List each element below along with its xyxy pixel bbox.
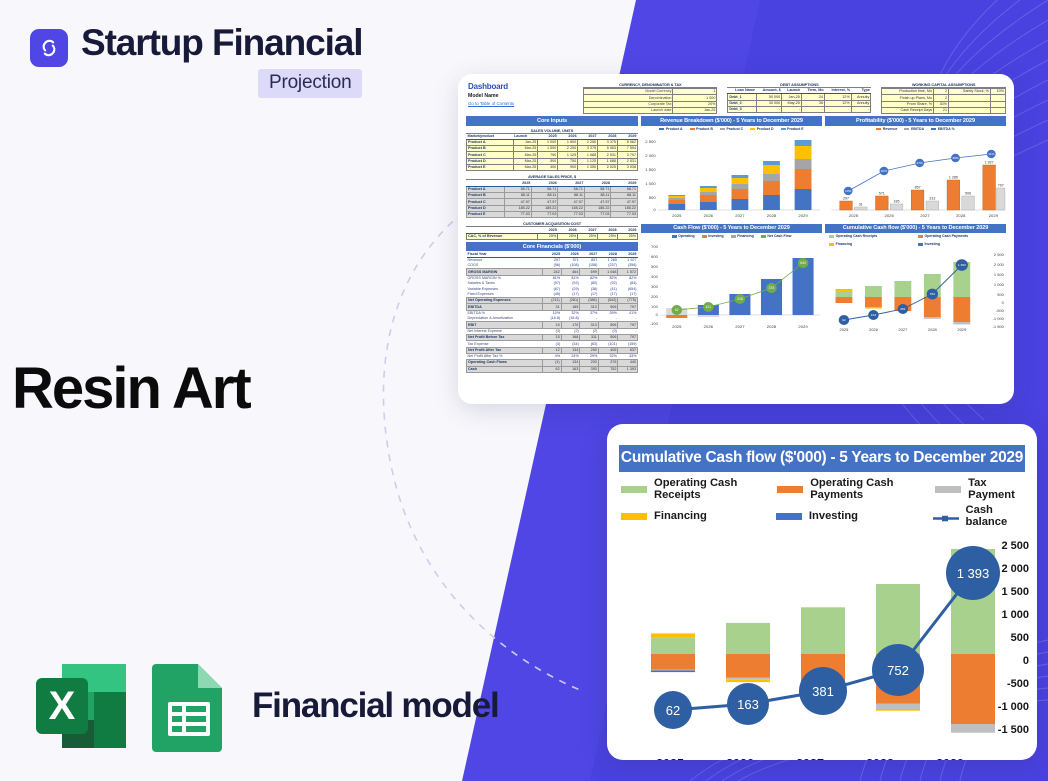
svg-text:2026: 2026 (885, 213, 895, 218)
data-label: 39% (952, 156, 959, 160)
svg-text:2 000: 2 000 (994, 262, 1005, 267)
badge-label: Financial model (252, 686, 499, 726)
dashboard-model-name: Model Name (468, 93, 583, 99)
data-label: 640 (800, 261, 806, 265)
data-label: 375 (769, 286, 775, 290)
data-label: 506 (965, 191, 971, 195)
data-label: 62 (842, 318, 846, 322)
data-label: 32% (881, 169, 888, 173)
x-tick: 2028 (845, 757, 915, 760)
infinity-loop-icon (37, 36, 61, 60)
x-tick: 2025 (635, 757, 705, 760)
table-row: Cash621633937521 393 (467, 366, 638, 372)
legend-label: Investing (708, 234, 723, 238)
legend-label: EBITDA % (938, 127, 955, 131)
svg-text:2026: 2026 (704, 213, 714, 218)
svg-text:2027: 2027 (920, 213, 930, 218)
svg-text:2025: 2025 (672, 324, 682, 329)
data-label: 752 (930, 292, 936, 296)
svg-text:2027: 2027 (898, 327, 907, 332)
y-tick: 500 (1011, 632, 1029, 644)
bar-group-2025 (651, 633, 695, 672)
svg-text:2029: 2029 (798, 213, 808, 218)
legend-label: Product E (787, 127, 804, 131)
legend-label: EBITDA (911, 127, 924, 131)
dashboard-preview-card[interactable]: Dashboard Model Name Go to Table of Cont… (458, 74, 1014, 404)
legend-label: Operating (678, 234, 695, 238)
profitability-chart-legend: Revenue EBITDA EBITDA % (825, 126, 1006, 133)
legend-item-financing: Financing (621, 504, 776, 528)
y-tick: -500 (1007, 678, 1029, 690)
table-row: Net Operating Expenses(211)(281)(386)(54… (467, 297, 638, 303)
avg-price-table: 2025 2026 2027 2028 2029 Product A 58.71… (466, 180, 638, 218)
svg-text:500: 500 (997, 292, 1005, 297)
chart-title: Cumulative Cash flow ($'000) - 5 Years t… (619, 445, 1025, 472)
legend-label: Operating Cash Payments (925, 234, 969, 238)
legend-label: Operating Cash Receipts (836, 234, 878, 238)
table-row: Debt_3 - - - - - (728, 106, 871, 112)
data-label: 297 (843, 196, 849, 200)
cashflow-chart-title: Cash Flow ($'000) - 5 Years to December … (641, 224, 822, 233)
table-row: Cash Receipt Days 21 (882, 107, 1006, 113)
svg-text:2027: 2027 (735, 324, 745, 329)
svg-text:2028: 2028 (928, 327, 937, 332)
data-label: 1 393 (958, 263, 966, 267)
debt-table: Loan Name Amount, $ Launch Term, Mo Inte… (727, 88, 871, 113)
cell: 163 (561, 366, 580, 372)
legend-swatch (777, 486, 803, 493)
cell: 393 (580, 366, 599, 372)
svg-text:-1 000: -1 000 (993, 316, 1005, 321)
table-row: GROSS MARGIN %81%81%82%82%82% (467, 275, 638, 281)
legend-label: Operating Cash Receipts (654, 477, 777, 501)
x-tick: 2026 (705, 757, 775, 760)
svg-text:1 500: 1 500 (645, 167, 656, 172)
legend-label: Product B (696, 127, 713, 131)
svg-text:-1 500: -1 500 (993, 324, 1005, 329)
svg-text:-500: -500 (996, 308, 1005, 313)
legend-item-operating-cash-payments: Operating Cash Payments (777, 477, 935, 501)
svg-text:500: 500 (649, 195, 657, 200)
legend-item-cash-balance: Cash balance (933, 504, 1023, 528)
chart-legend: Operating Cash Receipts Operating Cash P… (621, 477, 1023, 528)
data-label: 62 (675, 308, 679, 312)
cell: Launch date (584, 107, 673, 113)
svg-text:-100: -100 (650, 321, 659, 326)
brand-header: Startup Financial Projection (30, 24, 362, 98)
cell: 1 393 (618, 366, 638, 372)
legend-label: Financing (654, 510, 707, 522)
cumulative-mini-title: Cumulative Cash flow ($'000) - 5 Years t… (825, 224, 1006, 233)
data-label: 41% (988, 152, 995, 156)
svg-text:2 500: 2 500 (994, 252, 1005, 257)
data-label: 1 285 (949, 175, 958, 179)
cac-table: 2025 2026 2027 2028 2029 CAC, % of Reven… (466, 227, 638, 240)
svg-text:2028: 2028 (767, 213, 777, 218)
data-label: 101 (706, 305, 712, 309)
revenue-breakdown-chart: 2 500 2 000 1 500 1 000 500 0 (641, 133, 822, 219)
revenue-chart-legend: Product A Product B Product C Product D … (641, 126, 822, 133)
svg-text:2028: 2028 (956, 213, 966, 218)
svg-text:2025: 2025 (840, 327, 849, 332)
y-tick: 2 500 (1001, 540, 1029, 552)
row-label: Cash (467, 366, 543, 372)
svg-text:2 500: 2 500 (645, 139, 656, 144)
legend-label: Product D (757, 127, 774, 131)
legend-label: Product A (666, 127, 683, 131)
legend-swatch (621, 486, 647, 493)
profitability-chart-title: Profitability ($'000) - 5 Years to Decem… (825, 116, 1006, 125)
data-label: 752 (887, 663, 909, 678)
svg-text:100: 100 (651, 304, 659, 309)
data-label: 1 927 (985, 160, 994, 164)
cumulative-cashflow-card[interactable]: Cumulative Cash flow ($'000) - 5 Years t… (607, 424, 1037, 760)
svg-text:2025: 2025 (672, 213, 682, 218)
currency-table: Model Currency 1 Denomination 1 000 Corp… (583, 88, 717, 114)
working-capital-table: Production time, Mo 2 Safety Stock, % 10… (881, 88, 1006, 114)
core-financials-table: Fiscal Year 2025 2026 2027 2028 2029 Rev… (466, 251, 638, 373)
svg-text:1 000: 1 000 (994, 282, 1005, 287)
sales-volume-table: Market/product Launch 2025 2026 2027 202… (466, 134, 638, 172)
svg-text:1 000: 1 000 (645, 181, 656, 186)
svg-text:700: 700 (651, 244, 659, 249)
legend-label: Investing (809, 510, 858, 522)
legend-label: Investing (925, 242, 940, 246)
cell: 752 (598, 366, 618, 372)
format-badges: X Financial model (32, 660, 499, 752)
cell: 62 (543, 366, 562, 372)
bar-group-2026 (726, 623, 770, 682)
data-label: 37% (917, 161, 924, 165)
toc-link[interactable]: Go to Table of Contents (468, 101, 583, 106)
svg-text:400: 400 (651, 274, 659, 279)
svg-text:0: 0 (656, 312, 659, 317)
cell: Jan-25 (673, 107, 717, 113)
x-tick: 2029 (915, 757, 985, 760)
svg-text:2027: 2027 (735, 213, 745, 218)
data-label: 313 (929, 196, 935, 200)
legend-label: Product C (726, 127, 743, 131)
microsoft-excel-icon: X (32, 660, 130, 752)
svg-text:2025: 2025 (849, 213, 859, 218)
table-row: Product E Mar-25 400 900 1 350 2 025 3 0… (467, 165, 638, 171)
svg-text:2028: 2028 (767, 324, 777, 329)
y-tick: 1 000 (1001, 609, 1029, 621)
data-label: 797 (998, 183, 1004, 187)
svg-text:500: 500 (651, 264, 659, 269)
svg-text:X: X (49, 684, 76, 728)
data-label: 381 (900, 307, 906, 311)
y-tick: 2 000 (1001, 563, 1029, 575)
svg-text:2029: 2029 (798, 324, 808, 329)
x-axis-labels: 2025 2026 2027 2028 2029 (635, 757, 985, 760)
brand-logo (30, 29, 68, 67)
legend-label: Operating Cash Payments (810, 477, 935, 501)
cumulative-cashflow-chart: 62 163 381 752 1 393 (607, 534, 1037, 749)
cumulative-cash-flow-mini-chart: 2 500 2 000 1 500 1 000 500 0 -500 -1 00… (825, 248, 1006, 332)
data-label: 31 (859, 202, 863, 206)
core-financials-bar: Core Financials ($'000) (466, 242, 638, 251)
svg-text:2 000: 2 000 (645, 153, 656, 158)
y-tick: -1 500 (998, 724, 1029, 736)
legend-item-operating-cash-receipts: Operating Cash Receipts (621, 477, 777, 501)
data-label: 185 (894, 199, 900, 203)
svg-text:0: 0 (653, 207, 656, 212)
svg-text:1 500: 1 500 (994, 272, 1005, 277)
cashflow-chart-legend: Operating Investing Financing Net Cash F… (641, 233, 822, 240)
data-label: 381 (812, 684, 834, 699)
svg-text:200: 200 (651, 294, 659, 299)
dashboard-heading: Dashboard (468, 82, 583, 91)
data-label: 571 (879, 191, 885, 195)
legend-line-marker (933, 513, 959, 520)
revenue-chart-title: Revenue Breakdown ($'000) - 5 Years to D… (641, 116, 822, 125)
svg-text:2026: 2026 (869, 327, 878, 332)
table-row: CAC, % of Revenue 25% 25% 25% 25% 25% (467, 233, 638, 239)
brand-title: Startup Financial (81, 24, 362, 63)
y-tick: 0 (1023, 655, 1029, 667)
core-inputs-bar: Core Inputs (466, 116, 638, 125)
cash-flow-chart: 700 600 500 400 300 200 100 0 -100 (641, 240, 822, 330)
legend-swatch (621, 513, 647, 520)
y-axis-labels: 2 500 2 000 1 500 1 000 500 0 -500 -1 00… (977, 540, 1029, 740)
data-label: 62 (666, 703, 680, 718)
google-sheets-icon (150, 660, 228, 752)
brand-subtitle: Projection (258, 69, 363, 98)
legend-swatch (776, 513, 802, 520)
y-tick: -1 000 (998, 701, 1029, 713)
legend-item-investing: Investing (776, 504, 933, 528)
svg-text:600: 600 (651, 254, 659, 259)
svg-text:2026: 2026 (704, 324, 714, 329)
data-label: 10% (845, 189, 852, 193)
cumulative-mini-legend: Operating Cash Receipts Operating Cash P… (825, 233, 1006, 248)
data-label: 163 (737, 697, 759, 712)
table-row: Product E 77.03 77.03 77.03 77.03 77.03 (467, 212, 638, 218)
profitability-chart: 10% 32% 37% 39% 41% 297 571 857 1 285 (825, 133, 1006, 219)
legend-label: Revenue (883, 127, 898, 131)
data-label: 857 (915, 185, 921, 189)
svg-text:0: 0 (1002, 300, 1005, 305)
chart-plot-area: 62 163 381 752 1 393 2 500 2 000 1 500 1… (607, 534, 1037, 749)
svg-text:2029: 2029 (957, 327, 966, 332)
legend-label: Net Cash Flow (767, 234, 791, 238)
data-label: 163 (871, 313, 877, 317)
legend-swatch (935, 486, 961, 493)
legend-label: Cash balance (966, 504, 1023, 528)
svg-text:2029: 2029 (989, 213, 999, 218)
y-tick: 1 500 (1001, 586, 1029, 598)
legend-item-tax-payment: Tax Payment (935, 477, 1023, 501)
data-label: 218 (737, 297, 743, 301)
legend-label: Financing (737, 234, 754, 238)
legend-label: Tax Payment (968, 477, 1023, 501)
page-title: Resin Art (12, 355, 250, 422)
svg-text:300: 300 (651, 284, 659, 289)
x-tick: 2027 (775, 757, 845, 760)
legend-label: Financing (836, 242, 853, 246)
